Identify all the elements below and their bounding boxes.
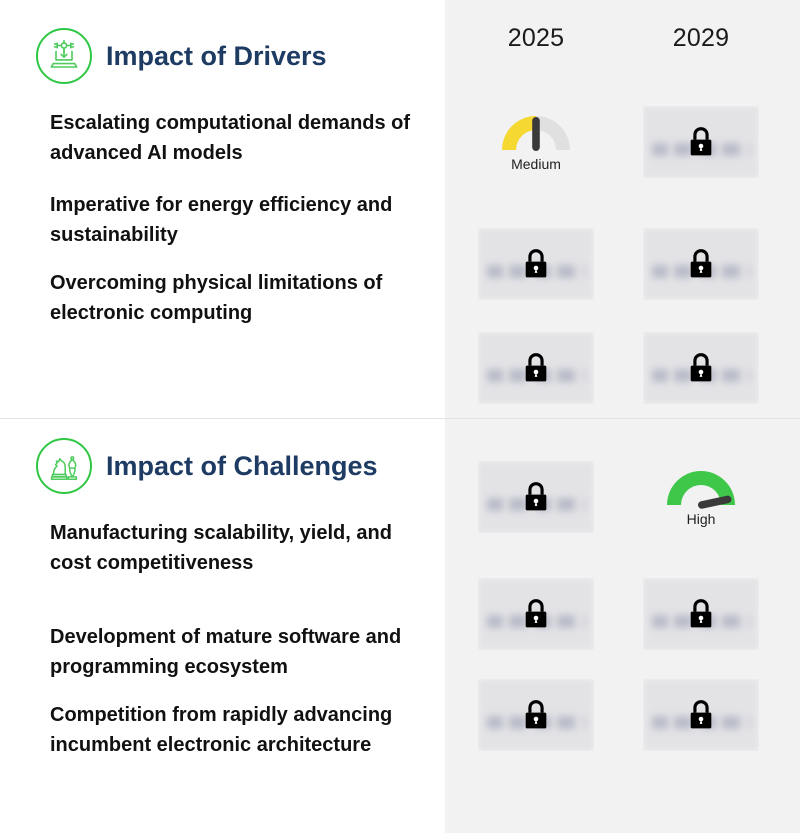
value-cell-drivers-1-2025[interactable]: Medium <box>478 106 594 178</box>
chess-pieces-icon <box>36 438 92 494</box>
value-cell-challenges-3-2029[interactable] <box>643 679 759 751</box>
driver-item-3: Overcoming physical limitations of elect… <box>50 268 430 328</box>
locked-cell[interactable] <box>478 461 594 533</box>
locked-cell[interactable] <box>478 332 594 404</box>
gauge-arc-icon <box>497 106 575 156</box>
locked-cell[interactable] <box>478 228 594 300</box>
gauge-label-medium: Medium <box>511 157 561 171</box>
lock-icon <box>686 125 716 159</box>
lock-icon <box>521 351 551 385</box>
value-cell-drivers-3-2025[interactable] <box>478 332 594 404</box>
section-title-drivers: Impact of Drivers <box>106 43 327 70</box>
locked-cell[interactable] <box>478 578 594 650</box>
lock-icon <box>686 698 716 732</box>
driver-item-1: Escalating computational demands of adva… <box>50 108 430 168</box>
lock-icon <box>521 698 551 732</box>
challenge-item-3: Competition from rapidly advancing incum… <box>50 700 430 760</box>
lock-icon <box>521 480 551 514</box>
locked-cell[interactable] <box>643 679 759 751</box>
locked-cell[interactable] <box>643 228 759 300</box>
value-cell-drivers-2-2025[interactable] <box>478 228 594 300</box>
lock-icon <box>521 597 551 631</box>
lock-icon <box>686 247 716 281</box>
lock-icon <box>686 597 716 631</box>
value-cell-challenges-3-2025[interactable] <box>478 679 594 751</box>
column-header-2029: 2029 <box>641 24 761 53</box>
value-cell-drivers-1-2029[interactable] <box>643 106 759 178</box>
locked-cell[interactable] <box>643 578 759 650</box>
challenge-item-1: Manufacturing scalability, yield, and co… <box>50 518 430 578</box>
lock-icon <box>686 351 716 385</box>
gauge-medium[interactable]: Medium <box>478 106 594 178</box>
lock-icon <box>521 247 551 281</box>
gauge-high[interactable]: High <box>643 461 759 533</box>
value-cell-challenges-2-2029[interactable] <box>643 578 759 650</box>
column-header-2025: 2025 <box>476 24 596 53</box>
value-cell-challenges-2-2025[interactable] <box>478 578 594 650</box>
chip-download-laptop-icon <box>36 28 92 84</box>
section-header-drivers: Impact of Drivers <box>36 28 327 84</box>
value-cell-challenges-1-2025[interactable] <box>478 461 594 533</box>
locked-cell[interactable] <box>643 332 759 404</box>
section-header-challenges: Impact of Challenges <box>36 438 378 494</box>
impact-matrix-page: 2025 2029 Impact of Drivers Escalating c… <box>0 0 800 833</box>
value-cell-drivers-3-2029[interactable] <box>643 332 759 404</box>
gauge-arc-icon <box>662 461 740 511</box>
locked-cell[interactable] <box>643 106 759 178</box>
challenge-item-2: Development of mature software and progr… <box>50 622 430 682</box>
value-cell-challenges-1-2029[interactable]: High <box>643 461 759 533</box>
gauge-label-high: High <box>687 512 716 526</box>
section-title-challenges: Impact of Challenges <box>106 453 378 480</box>
driver-item-2: Imperative for energy efficiency and sus… <box>50 190 430 250</box>
value-cell-drivers-2-2029[interactable] <box>643 228 759 300</box>
section-divider <box>0 418 800 419</box>
locked-cell[interactable] <box>478 679 594 751</box>
